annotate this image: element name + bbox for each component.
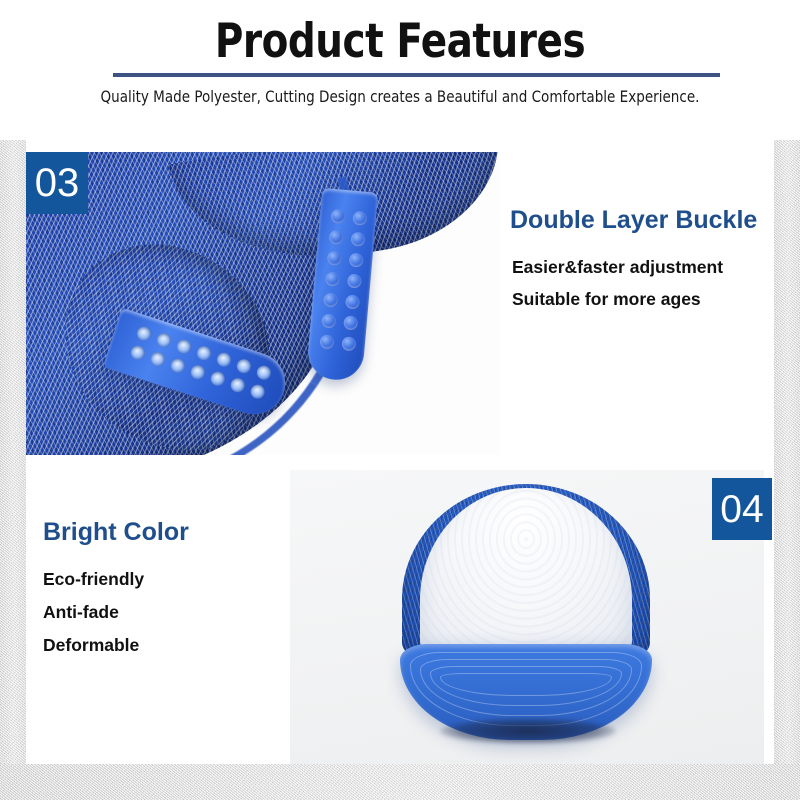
hole <box>215 351 233 369</box>
paper-texture-right-edge <box>774 140 800 800</box>
feature-number-badge-03: 03 <box>26 152 88 214</box>
page-subtitle: Quality Made Polyester, Cutting Design c… <box>24 87 776 106</box>
cap-photo <box>290 470 764 764</box>
product-features-infographic: Product Features Quality Made Polyester,… <box>0 0 800 800</box>
paper-texture-bottom-edge <box>0 764 800 800</box>
stud <box>321 313 336 328</box>
hole <box>169 357 187 375</box>
hole <box>129 344 147 362</box>
hole <box>255 364 273 382</box>
stud <box>343 315 358 330</box>
hole <box>135 325 153 343</box>
hole <box>195 344 213 362</box>
stud <box>330 209 345 224</box>
feature-line-color-3: Deformable <box>43 635 139 656</box>
page-title: Product Features <box>32 14 768 69</box>
hole <box>249 383 267 401</box>
hole <box>175 338 193 356</box>
stud <box>352 211 367 226</box>
stud <box>323 292 338 307</box>
hole <box>189 363 207 381</box>
stud <box>350 232 365 247</box>
feature-line-color-2: Anti-fade <box>43 602 119 623</box>
hole <box>149 350 167 368</box>
buckle-photo <box>26 152 500 455</box>
feature-line-color-1: Eco-friendly <box>43 569 144 590</box>
stud-grid <box>319 209 367 352</box>
paper-texture-left-edge <box>0 140 26 800</box>
stud <box>341 336 356 351</box>
cap-drop-shadow <box>440 718 616 744</box>
feature-line-buckle-2: Suitable for more ages <box>512 289 701 310</box>
title-divider <box>113 73 720 77</box>
hole <box>209 370 227 388</box>
stud <box>347 273 362 288</box>
hole <box>235 357 253 375</box>
feature-heading-color: Bright Color <box>43 518 189 547</box>
stud <box>329 230 344 245</box>
hole <box>229 376 247 394</box>
stud <box>349 253 364 268</box>
stud <box>325 272 340 287</box>
feature-line-buckle-1: Easier&faster adjustment <box>512 257 723 278</box>
stud <box>345 294 360 309</box>
feature-heading-buckle: Double Layer Buckle <box>510 206 757 235</box>
stud <box>327 251 342 266</box>
stud <box>319 334 334 349</box>
hole <box>155 331 173 349</box>
feature-number-badge-04: 04 <box>712 478 772 540</box>
header: Product Features Quality Made Polyester,… <box>0 0 800 140</box>
